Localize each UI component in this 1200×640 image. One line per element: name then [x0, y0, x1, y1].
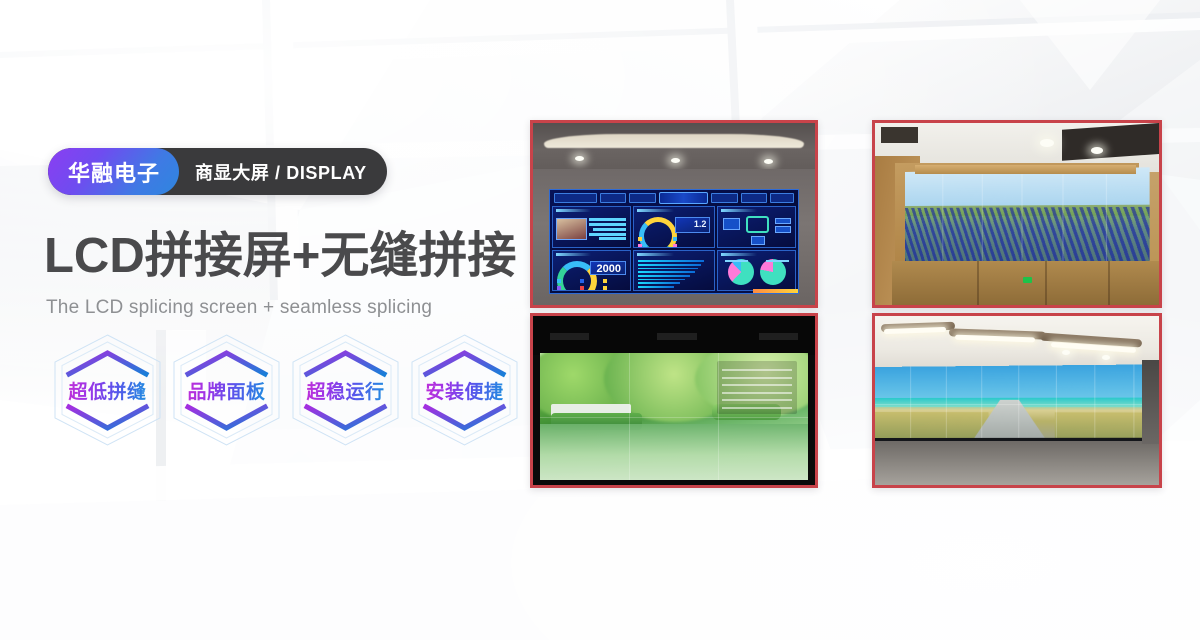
gallery-photo-control-room-dashboard-wall[interactable]: 1.2 [530, 120, 818, 308]
feature-badge-list: 超低拼缝 品牌面板 [48, 331, 524, 449]
feature-badge-label: 品牌面板 [187, 377, 265, 404]
headline-title: LCD拼接屏+无缝拼接 [44, 231, 516, 282]
gallery-photo-solar-farm-long-wall[interactable] [872, 120, 1162, 308]
brand-name-chip: 华融电子 [48, 148, 179, 195]
feature-badge-label: 安装便捷 [425, 377, 503, 404]
feature-badge-label: 超稳运行 [306, 377, 384, 404]
gallery-photo-green-pond-wall[interactable] [530, 313, 818, 488]
feature-badge: 超稳运行 [286, 331, 405, 449]
gallery-photo-beach-boardwalk-long-wall[interactable] [872, 313, 1162, 488]
brand-category-label: 商显大屏 / DISPLAY [179, 148, 387, 195]
feature-badge: 超低拼缝 [48, 331, 167, 449]
feature-badge: 安装便捷 [405, 331, 524, 449]
brand-pill: 华融电子 商显大屏 / DISPLAY [48, 148, 387, 195]
feature-badge: 品牌面板 [167, 331, 286, 449]
headline-subtitle: The LCD splicing screen + seamless splic… [46, 297, 432, 319]
product-banner: 华融电子 商显大屏 / DISPLAY LCD拼接屏+无缝拼接 The LCD … [0, 0, 1200, 640]
feature-badge-label: 超低拼缝 [68, 377, 146, 404]
